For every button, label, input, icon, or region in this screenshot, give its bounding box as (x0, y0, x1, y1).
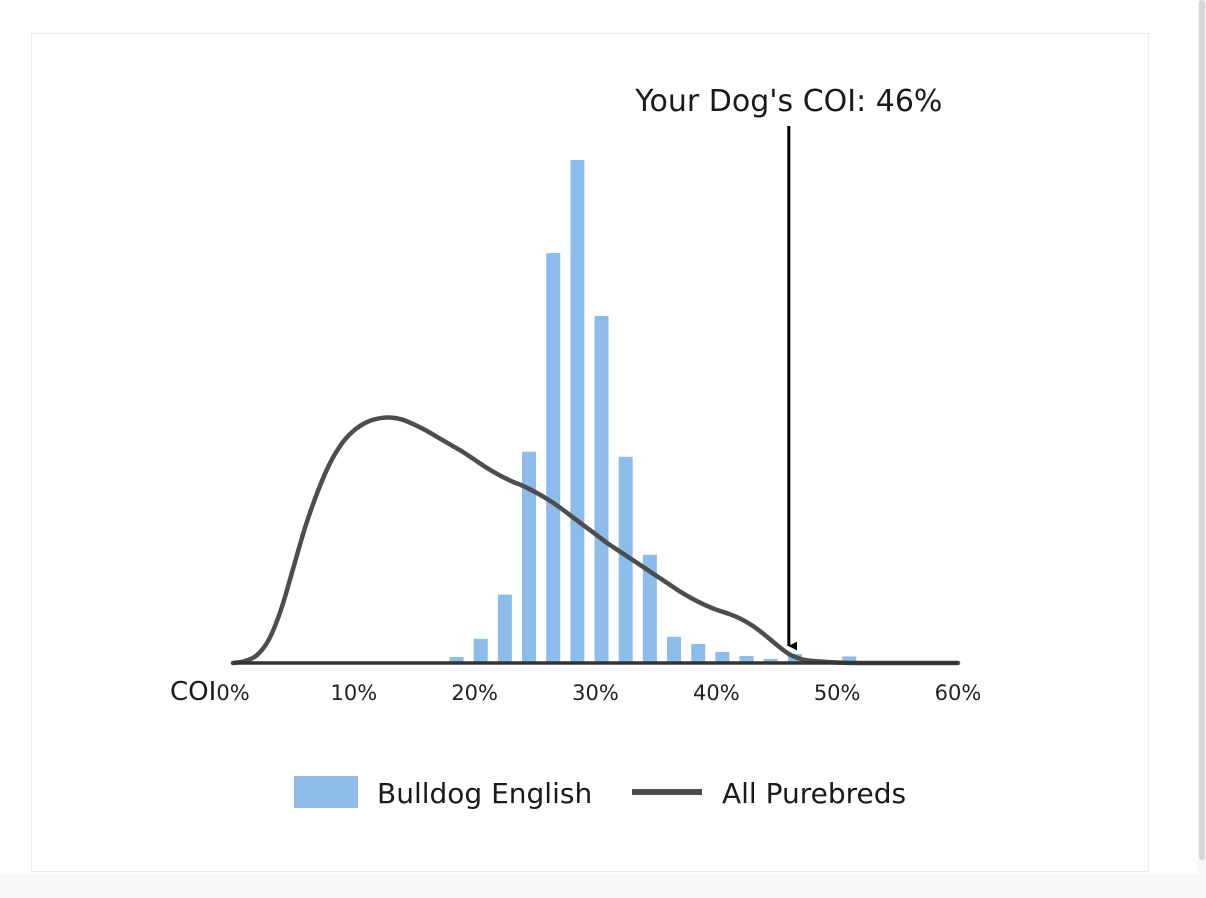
histogram-bar (570, 160, 584, 663)
annotation-label: Your Dog's COI: 46% (634, 84, 942, 119)
annotation-your-dog-coi: Your Dog's COI: 46% (634, 84, 942, 646)
histogram-bar (691, 644, 705, 663)
histogram-bar (498, 595, 512, 663)
page-scrollbar-track[interactable] (1198, 0, 1206, 898)
chart-svg: 0%10%20%30%40%50%60% COI Your Dog's COI:… (32, 34, 1148, 871)
legend-label-all-purebreds: All Purebreds (722, 777, 906, 810)
page-scrollbar-thumb[interactable] (1199, 0, 1205, 860)
bar-series-bulldog-english (450, 160, 857, 663)
page-root: 0%10%20%30%40%50%60% COI Your Dog's COI:… (0, 0, 1206, 898)
x-axis-tick-label: 10% (330, 681, 377, 705)
x-axis-tick-label: 20% (451, 681, 498, 705)
histogram-bar (595, 316, 609, 663)
x-axis-tick-label: 30% (572, 681, 619, 705)
x-axis-tick-labels: 0%10%20%30%40%50%60% (216, 681, 981, 705)
x-axis-title: COI (170, 677, 216, 707)
x-axis-tick-label: 0% (216, 681, 249, 705)
histogram-bar (667, 637, 681, 663)
page-bottom-gutter (0, 874, 1198, 898)
histogram-bar (546, 253, 560, 663)
chart-card: 0%10%20%30%40%50%60% COI Your Dog's COI:… (31, 33, 1149, 872)
x-axis-tick-label: 50% (814, 681, 861, 705)
x-axis-tick-label: 60% (935, 681, 982, 705)
histogram-bar (474, 639, 488, 663)
x-axis-tick-label: 40% (693, 681, 740, 705)
histogram-bar (522, 452, 536, 663)
legend-label-bulldog-english: Bulldog English (377, 777, 592, 810)
coi-distribution-chart: 0%10%20%30%40%50%60% COI Your Dog's COI:… (32, 34, 1148, 871)
chart-legend: Bulldog English All Purebreds (294, 776, 906, 810)
legend-swatch-bulldog-english (294, 776, 358, 808)
